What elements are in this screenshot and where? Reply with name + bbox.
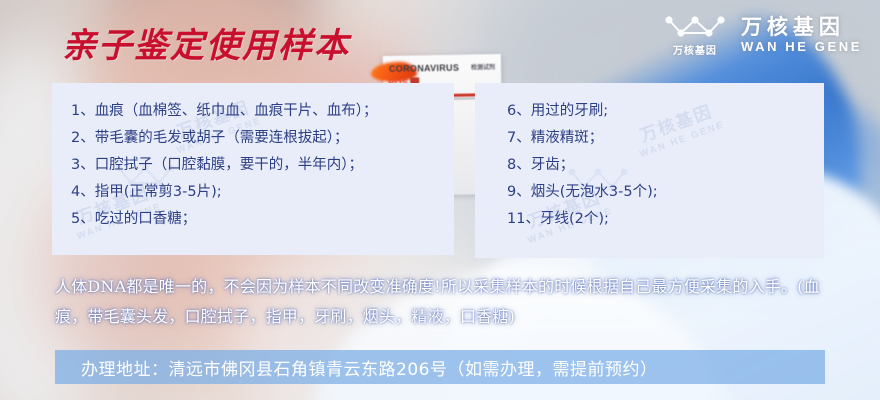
logo-mark-label: 万核基因 bbox=[673, 42, 717, 57]
list-item: 1、血痕（血棉签、纸巾血、血痕干片、血布）； bbox=[71, 98, 454, 125]
logo-name-cn: 万核基因 bbox=[741, 16, 845, 40]
list-item: 2、带毛囊的毛发或胡子（需要连根拔起）； bbox=[71, 125, 454, 152]
note-paragraph: 人体DNA都是唯一的，不会因为样本不同改变准确度!所以采集样本的时候根据自己最方… bbox=[55, 272, 835, 332]
logo-wordmark: 万核基因 WAN HE GENE bbox=[741, 16, 862, 55]
list-item: 11、牙线(2个); bbox=[507, 206, 824, 233]
list-item: 9、烟头(无泡水3-5个); bbox=[507, 179, 824, 206]
address-bar: 办理地址：清远市佛冈县石角镇青云东路206号（如需办理，需提前预约） bbox=[55, 350, 825, 384]
address-bar-text: 办理地址：清远市佛冈县石角镇青云东路206号（如需办理，需提前预约） bbox=[55, 355, 657, 380]
test-card-title: CORONAVIRUS bbox=[389, 63, 459, 74]
brand-logo: 万核基因 万核基因 WAN HE GENE bbox=[663, 14, 862, 57]
sample-list-left: 1、血痕（血棉签、纸巾血、血痕干片、血布）； 2、带毛囊的毛发或胡子（需要连根拔… bbox=[52, 83, 454, 233]
list-item: 3、口腔拭子（口腔黏膜，要干的，半年内）； bbox=[71, 152, 454, 179]
sample-list-right: 6、用过的牙刷; 7、精液精斑； 8、牙齿； 9、烟头(无泡水3-5个); 11… bbox=[475, 83, 824, 233]
list-item: 7、精液精斑； bbox=[507, 125, 824, 152]
dna-molecule-icon bbox=[663, 14, 727, 40]
list-item: 8、牙齿； bbox=[507, 152, 824, 179]
sample-panel-left: 万核基因 WAN HE GENE 万核基因 WAN HE GENE bbox=[52, 83, 454, 255]
test-card-subtitle: 检测试剂 bbox=[471, 62, 495, 71]
logo-mark: 万核基因 bbox=[663, 14, 727, 57]
logo-name-en: WAN HE GENE bbox=[741, 40, 862, 55]
poster-root: CORONAVIRUS 检测试剂 POS 亲子鉴定使用样本 bbox=[0, 0, 880, 400]
list-item: 4、指甲(正常剪3-5片); bbox=[71, 179, 454, 206]
page-title: 亲子鉴定使用样本 bbox=[62, 18, 350, 67]
list-item: 6、用过的牙刷; bbox=[507, 98, 824, 125]
list-item: 5、吃过的口香糖； bbox=[71, 206, 454, 233]
sample-panel-right: 万核基因 WAN HE GENE 万核基因 WAN HE GENE bbox=[475, 83, 824, 258]
